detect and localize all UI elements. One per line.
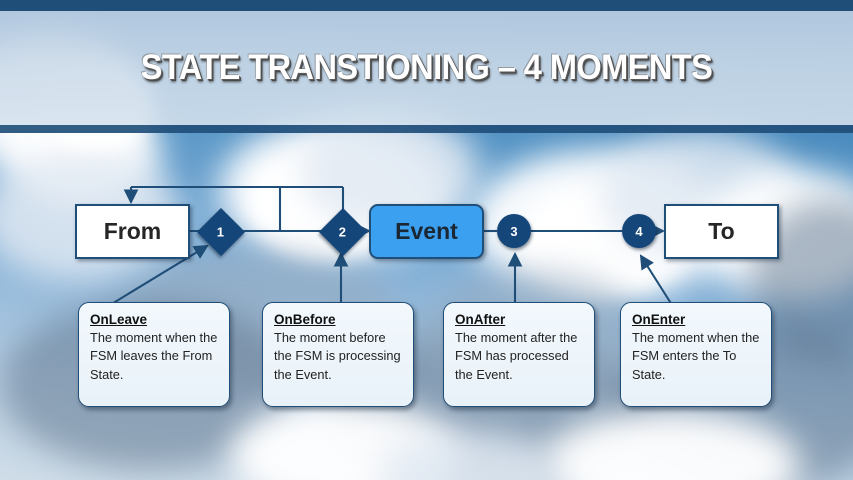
marker-1-label: 1 (217, 224, 224, 239)
callout-onbefore-title: OnBefore (274, 312, 402, 327)
callout-onleave[interactable]: OnLeave The moment when the FSM leaves t… (78, 302, 230, 407)
top-accent-bar (0, 0, 853, 11)
callout-onbefore-body: The moment before the FSM is processing … (274, 329, 402, 384)
slide: STATE TRANSTIONING – 4 MOMENTS (0, 0, 853, 480)
node-from[interactable]: From (75, 204, 190, 259)
callout-onenter-title: OnEnter (632, 312, 760, 327)
callout-onleave-body: The moment when the FSM leaves the From … (90, 329, 218, 384)
marker-3-label: 3 (510, 224, 517, 239)
marker-4-label: 4 (635, 224, 642, 239)
callout-onafter[interactable]: OnAfter The moment after the FSM has pro… (443, 302, 595, 407)
node-from-label: From (104, 218, 162, 245)
leader-onenter (641, 256, 672, 305)
slide-title: STATE TRANSTIONING – 4 MOMENTS (30, 48, 823, 88)
node-event[interactable]: Event (369, 204, 484, 259)
callout-onenter-body: The moment when the FSM enters the To St… (632, 329, 760, 384)
marker-3[interactable]: 3 (497, 214, 531, 248)
marker-4[interactable]: 4 (622, 214, 656, 248)
node-to[interactable]: To (664, 204, 779, 259)
callout-onleave-title: OnLeave (90, 312, 218, 327)
callout-onenter[interactable]: OnEnter The moment when the FSM enters t… (620, 302, 772, 407)
callout-onbefore[interactable]: OnBefore The moment before the FSM is pr… (262, 302, 414, 407)
title-band-underline (0, 125, 853, 133)
node-to-label: To (708, 218, 734, 245)
marker-2-label: 2 (339, 224, 346, 239)
callout-onafter-body: The moment after the FSM has processed t… (455, 329, 583, 384)
node-event-label: Event (395, 218, 458, 245)
callout-onafter-title: OnAfter (455, 312, 583, 327)
